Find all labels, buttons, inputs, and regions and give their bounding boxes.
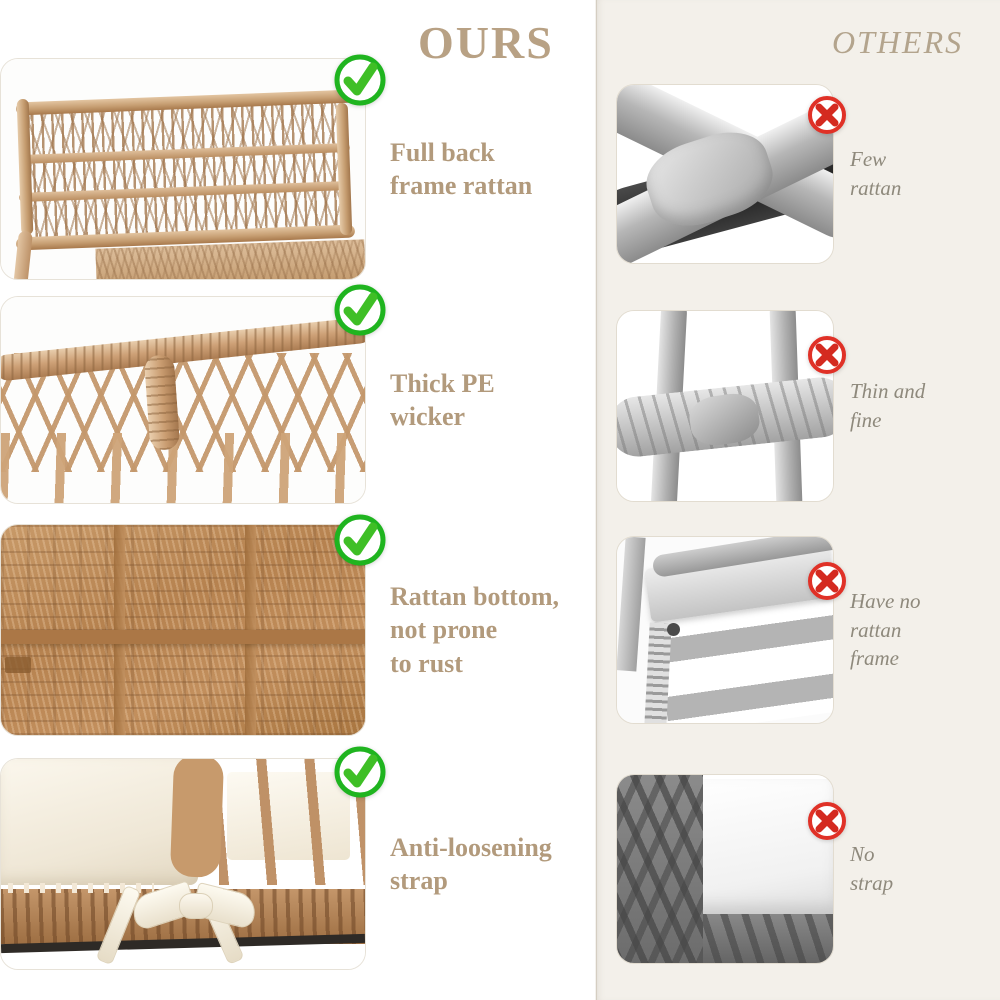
cross-circle-icon <box>806 334 848 376</box>
others-column: OTHERS Few rattan <box>596 0 1000 1000</box>
thin-fine-rattan-photo <box>617 311 833 501</box>
ours-photo-3 <box>0 524 366 736</box>
ours-photo-4 <box>0 758 366 970</box>
cross-circle-icon <box>806 94 848 136</box>
few-rattan-photo <box>617 85 833 263</box>
ours-row-1: Full back frame rattan <box>0 58 532 280</box>
others-heading: OTHERS <box>832 24 963 61</box>
others-row-3: Have no rattan frame <box>616 536 921 724</box>
ours-photo-2 <box>0 296 366 504</box>
check-circle-icon <box>332 282 388 338</box>
others-photo-4 <box>616 774 834 964</box>
ours-row-2: Thick PE wicker <box>0 296 495 504</box>
column-divider <box>595 0 597 1000</box>
anti-loosening-strap-photo <box>1 759 365 969</box>
ours-label-4: Anti-loosening strap <box>390 831 552 898</box>
check-circle-icon <box>332 52 388 108</box>
ours-label-1: Full back frame rattan <box>390 136 532 203</box>
ours-row-4: Anti-loosening strap <box>0 758 552 970</box>
comparison-infographic: OURS <box>0 0 1000 1000</box>
others-row-4: No strap <box>616 774 893 964</box>
check-circle-icon <box>332 512 388 568</box>
others-label-4: No strap <box>850 840 893 898</box>
rattan-bottom-weave-photo <box>1 525 365 735</box>
cross-circle-icon <box>806 800 848 842</box>
ours-row-3: Rattan bottom, not prone to rust <box>0 524 559 736</box>
others-label-2: Thin and fine <box>850 377 925 435</box>
others-label-3: Have no rattan frame <box>850 587 921 674</box>
others-row-1: Few rattan <box>616 84 901 264</box>
ours-photo-1 <box>0 58 366 280</box>
ours-label-3: Rattan bottom, not prone to rust <box>390 580 559 680</box>
others-photo-2 <box>616 310 834 502</box>
cross-circle-icon <box>806 560 848 602</box>
rattan-back-frame-photo <box>1 59 365 279</box>
thick-pe-wicker-photo <box>1 297 365 503</box>
ours-column: OURS <box>0 0 596 1000</box>
others-photo-3 <box>616 536 834 724</box>
others-label-1: Few rattan <box>850 145 901 203</box>
no-rattan-frame-photo <box>617 537 833 723</box>
others-photo-1 <box>616 84 834 264</box>
check-circle-icon <box>332 744 388 800</box>
others-row-2: Thin and fine <box>616 310 925 502</box>
no-strap-photo <box>617 775 833 963</box>
ours-label-2: Thick PE wicker <box>390 367 495 434</box>
